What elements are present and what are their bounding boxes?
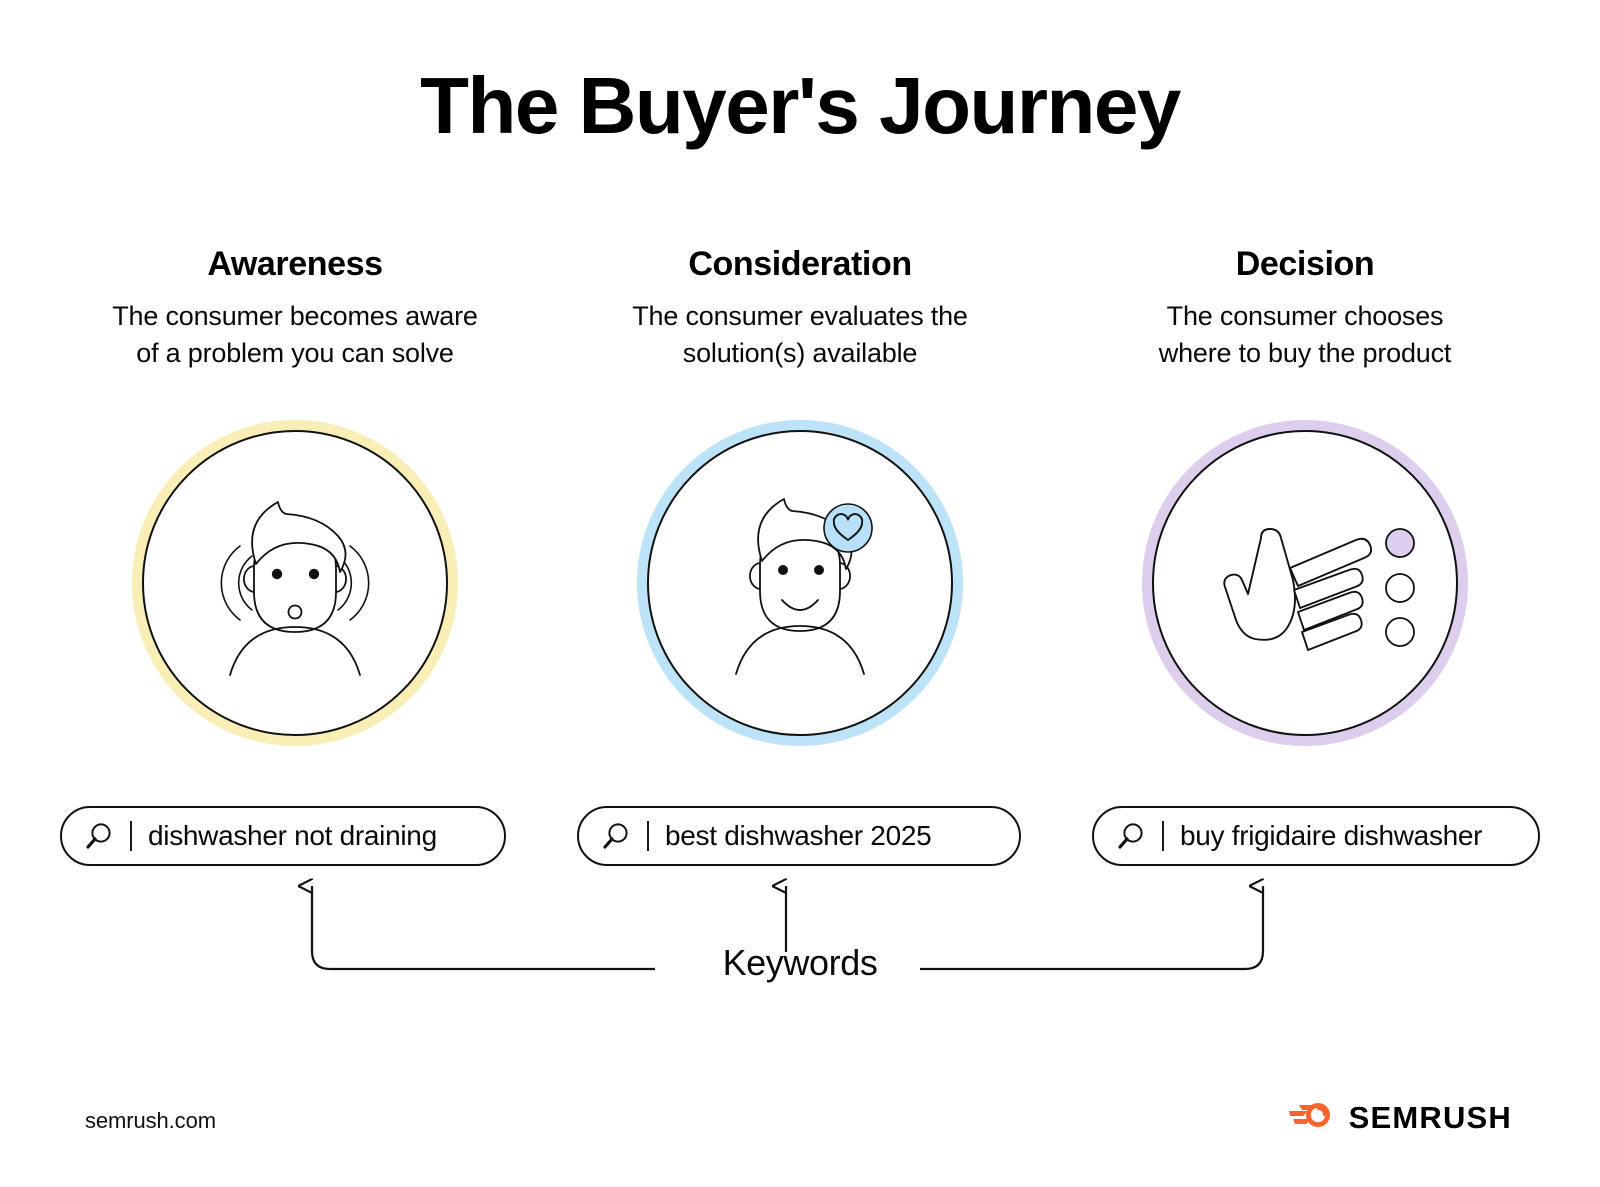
search-icon [601,821,631,851]
illustration-consideration [635,418,965,748]
option-dot[interactable] [1386,574,1414,602]
stage-description-decision: The consumer chooses where to buy the pr… [1159,298,1451,372]
stage-description-awareness: The consumer becomes aware of a problem … [112,298,477,372]
option-dot[interactable] [1386,618,1414,646]
option-dot-selected[interactable] [1386,529,1414,557]
pointing-hand-choice-icon [1140,418,1470,748]
search-divider [1162,821,1164,851]
stage-description-line-2: solution(s) available [632,335,968,372]
search-query-text: buy frigidaire dishwasher [1180,820,1482,852]
search-bar-decision[interactable]: buy frigidaire dishwasher [1092,806,1540,866]
surprised-face-icon [130,418,460,748]
stage-heading-decision: Decision [1236,245,1375,284]
footer-website-url: semrush.com [85,1108,216,1134]
semrush-wordmark: SEMRUSH [1349,1100,1512,1136]
stage-description-consideration: The consumer evaluates the solution(s) a… [632,298,968,372]
stage-description-line-1: The consumer becomes aware [112,298,477,335]
illustration-decision [1140,418,1470,748]
search-bars-row: dishwasher not draining best dishwasher … [60,806,1540,866]
smiling-face-with-heart-badge-icon [635,418,965,748]
stage-description-line-2: where to buy the product [1159,335,1451,372]
search-query-text: dishwasher not draining [148,820,437,852]
stage-heading-consideration: Consideration [688,245,911,284]
search-divider [130,821,132,851]
search-query-text: best dishwasher 2025 [665,820,931,852]
stage-description-line-1: The consumer evaluates the [632,298,968,335]
illustration-awareness [130,418,460,748]
search-icon [84,821,114,851]
search-divider [647,821,649,851]
stages-row: Awareness The consumer becomes aware of … [60,245,1540,748]
stage-column-consideration: Consideration The consumer evaluates the… [565,245,1035,748]
page-title: The Buyer's Journey [0,62,1600,150]
search-bar-awareness[interactable]: dishwasher not draining [60,806,506,866]
stage-column-awareness: Awareness The consumer becomes aware of … [60,245,530,748]
semrush-comet-icon [1287,1098,1335,1137]
keywords-label: Keywords [0,942,1600,984]
stage-description-line-2: of a problem you can solve [112,335,477,372]
stage-column-decision: Decision The consumer chooses where to b… [1070,245,1540,748]
stage-description-line-1: The consumer chooses [1159,298,1451,335]
search-bar-consideration[interactable]: best dishwasher 2025 [577,806,1021,866]
semrush-logo: SEMRUSH [1287,1098,1512,1137]
search-icon [1116,821,1146,851]
stage-heading-awareness: Awareness [207,245,382,284]
